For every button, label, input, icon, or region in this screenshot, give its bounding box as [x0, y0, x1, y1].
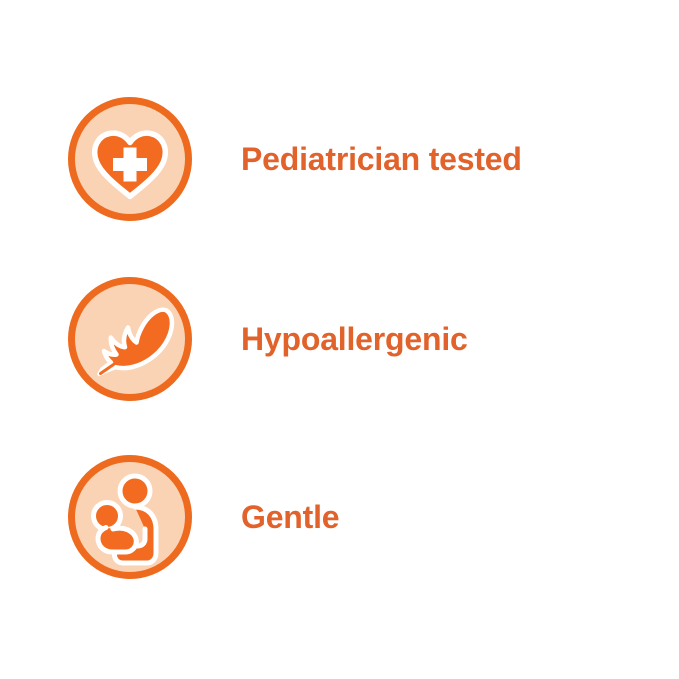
badge-item-gentle: Gentle: [0, 453, 679, 583]
badge-label: Pediatrician tested: [241, 95, 522, 223]
badge-item-hypoallergenic: Hypoallergenic: [0, 275, 679, 405]
badge-label: Gentle: [241, 453, 339, 581]
product-benefit-badges: Pediatrician tested Hypoallergenic: [0, 0, 679, 679]
mother-holding-baby-icon: [66, 453, 194, 581]
heart-with-medical-cross-icon: [66, 95, 194, 223]
badge-label: Hypoallergenic: [241, 275, 468, 403]
feather-icon: [66, 275, 194, 403]
badge-item-pediatrician-tested: Pediatrician tested: [0, 95, 679, 225]
